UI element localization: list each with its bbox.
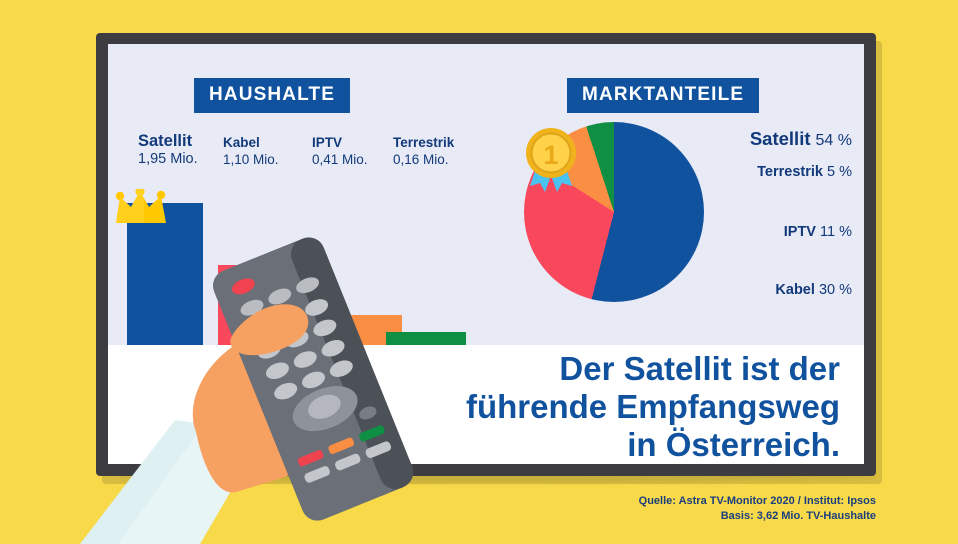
pie-label-name: Terrestrik bbox=[757, 164, 823, 180]
bar-kabel bbox=[218, 265, 294, 345]
svg-text:1: 1 bbox=[543, 140, 558, 170]
bar-terrestrik bbox=[386, 332, 466, 345]
pie-label-pct: 5 % bbox=[827, 164, 852, 180]
headline-line-1: Der Satellit ist der bbox=[410, 350, 840, 388]
pie-label-pct: 11 % bbox=[820, 224, 852, 240]
bar-label-value: 0,41 Mio. bbox=[312, 151, 368, 169]
pie-chart: 1 Satellit 54 % Terrestrik 5 % IPTV 11 %… bbox=[504, 44, 864, 345]
source-note: Quelle: Astra TV-Monitor 2020 / Institut… bbox=[639, 494, 876, 524]
tv-frame: HAUSHALTE Satellit 1,95 Mio. Kabel 1,10 … bbox=[96, 33, 876, 476]
bar-label-value: 1,95 Mio. bbox=[138, 150, 198, 168]
pie-label-name: Satellit bbox=[750, 128, 811, 149]
bar-satellit bbox=[127, 203, 203, 345]
medal-first-place-icon: 1 bbox=[520, 126, 584, 200]
bar-label-satellit: Satellit 1,95 Mio. bbox=[138, 132, 198, 168]
bar-chart-labels: Satellit 1,95 Mio. Kabel 1,10 Mio. IPTV … bbox=[126, 132, 478, 176]
bar-label-value: 1,10 Mio. bbox=[223, 151, 279, 169]
pie-label-name: IPTV bbox=[784, 224, 816, 240]
bar-label-name: Terrestrik bbox=[393, 134, 454, 151]
bar-label-terrestrik: Terrestrik 0,16 Mio. bbox=[393, 134, 454, 169]
bar-label-name: IPTV bbox=[312, 134, 368, 151]
pie-label-satellit: Satellit 54 % bbox=[750, 128, 852, 150]
pie-label-pct: 30 % bbox=[819, 282, 852, 298]
pie-label-pct: 54 % bbox=[816, 132, 852, 149]
pie-label-kabel: Kabel 30 % bbox=[775, 282, 852, 298]
crown-icon bbox=[114, 189, 178, 223]
pie-label-terrestrik: Terrestrik 5 % bbox=[757, 164, 852, 180]
bar-chart: Satellit 1,95 Mio. Kabel 1,10 Mio. IPTV … bbox=[108, 44, 488, 345]
bar-label-value: 0,16 Mio. bbox=[393, 151, 454, 169]
bar-label-name: Satellit bbox=[138, 132, 198, 150]
source-line-2: Basis: 3,62 Mio. TV-Haushalte bbox=[639, 509, 876, 524]
pie-label-iptv: IPTV 11 % bbox=[784, 224, 852, 240]
pie-label-name: Kabel bbox=[775, 282, 815, 298]
bar-label-name: Kabel bbox=[223, 134, 279, 151]
source-line-1: Quelle: Astra TV-Monitor 2020 / Institut… bbox=[639, 494, 876, 509]
infographic-canvas: HAUSHALTE Satellit 1,95 Mio. Kabel 1,10 … bbox=[0, 0, 958, 544]
headline-line-2: führende Empfangsweg bbox=[410, 388, 840, 426]
headline: Der Satellit ist der führende Empfangswe… bbox=[410, 350, 840, 464]
bar-label-kabel: Kabel 1,10 Mio. bbox=[223, 134, 279, 169]
bar-label-iptv: IPTV 0,41 Mio. bbox=[312, 134, 368, 169]
tv-screen: HAUSHALTE Satellit 1,95 Mio. Kabel 1,10 … bbox=[108, 44, 864, 464]
headline-line-3: in Österreich. bbox=[410, 426, 840, 464]
